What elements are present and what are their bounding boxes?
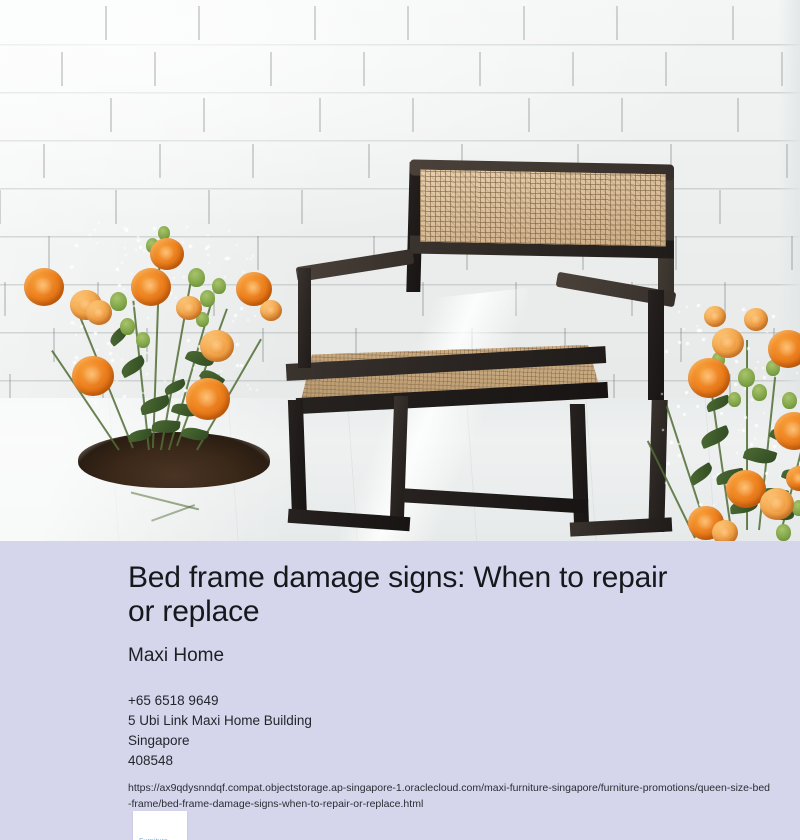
babys-breath bbox=[98, 222, 100, 224]
babys-breath bbox=[744, 388, 746, 390]
babys-breath bbox=[665, 350, 668, 353]
babys-breath bbox=[173, 277, 175, 279]
flower-bud bbox=[200, 290, 215, 307]
flower-bud bbox=[782, 392, 797, 409]
rose-bloom bbox=[72, 356, 114, 396]
rose-bloom bbox=[688, 358, 730, 398]
babys-breath bbox=[123, 227, 125, 229]
babys-breath bbox=[678, 341, 681, 344]
babys-breath bbox=[713, 476, 715, 478]
contact-block: +65 6518 9649 5 Ubi Link Maxi Home Build… bbox=[128, 691, 672, 771]
rose-bloom bbox=[86, 300, 112, 325]
babys-breath bbox=[249, 388, 251, 390]
babys-breath bbox=[153, 227, 156, 230]
babys-breath bbox=[699, 503, 702, 506]
babys-breath bbox=[247, 384, 249, 386]
flower-bud bbox=[120, 318, 135, 335]
contact-address-line2: Singapore bbox=[128, 731, 672, 751]
babys-breath bbox=[234, 314, 237, 317]
page-title: Bed frame damage signs: When to repair o… bbox=[128, 541, 672, 629]
contact-address-line1: 5 Ubi Link Maxi Home Building bbox=[128, 711, 672, 731]
babys-breath bbox=[125, 254, 127, 256]
babys-breath bbox=[121, 262, 123, 264]
rose-bloom bbox=[176, 296, 202, 320]
babys-breath bbox=[71, 321, 74, 324]
babys-breath bbox=[135, 249, 137, 251]
babys-breath bbox=[80, 325, 83, 328]
babys-breath bbox=[678, 454, 681, 457]
babys-breath bbox=[744, 416, 747, 419]
babys-breath bbox=[685, 391, 688, 394]
babys-breath bbox=[175, 297, 177, 299]
chair-left-armrest bbox=[296, 249, 415, 282]
babys-breath bbox=[181, 396, 183, 398]
babys-breath bbox=[686, 342, 689, 345]
babys-breath bbox=[763, 376, 766, 379]
babys-breath bbox=[124, 247, 126, 249]
babys-breath bbox=[247, 319, 249, 321]
babys-breath bbox=[236, 364, 239, 367]
page-url-line-2: -frame/bed-frame-damage-signs-when-to-re… bbox=[128, 796, 800, 812]
babys-breath bbox=[75, 244, 78, 247]
rose-bloom bbox=[712, 520, 738, 541]
chair-right-front-post bbox=[648, 290, 664, 400]
babys-breath bbox=[143, 250, 145, 252]
babys-breath bbox=[735, 360, 738, 363]
babys-breath bbox=[116, 380, 118, 382]
chair-left-rear-leg bbox=[390, 396, 408, 524]
babys-breath bbox=[720, 412, 723, 415]
babys-breath bbox=[131, 273, 133, 275]
babys-breath bbox=[207, 234, 209, 236]
babys-breath bbox=[228, 230, 230, 232]
chair-left-front-leg bbox=[288, 400, 307, 520]
babys-breath bbox=[713, 504, 715, 506]
babys-breath bbox=[220, 370, 222, 372]
babys-breath bbox=[242, 271, 244, 273]
babys-breath bbox=[205, 247, 208, 250]
babys-breath bbox=[164, 380, 166, 382]
company-name: Maxi Home bbox=[128, 644, 672, 668]
page-url[interactable]: https://ax9qdysnndqf.compat.objectstorag… bbox=[128, 780, 800, 812]
babys-breath bbox=[94, 401, 97, 404]
rose-bloom bbox=[712, 328, 744, 358]
flower-bud bbox=[776, 524, 791, 541]
chair-left-front-post bbox=[298, 268, 311, 368]
contact-postal-code: 408548 bbox=[128, 751, 672, 771]
babys-breath bbox=[250, 258, 252, 260]
contact-phone[interactable]: +65 6518 9649 bbox=[128, 691, 672, 711]
babys-breath bbox=[772, 315, 775, 318]
babys-breath bbox=[142, 392, 144, 394]
babys-breath bbox=[765, 472, 768, 475]
babys-breath bbox=[71, 292, 73, 294]
flower-bud bbox=[110, 292, 127, 311]
babys-breath bbox=[123, 288, 125, 290]
rose-bloom bbox=[186, 378, 230, 420]
babys-breath bbox=[763, 412, 765, 414]
babys-breath bbox=[755, 367, 757, 369]
babys-breath bbox=[137, 239, 140, 242]
babys-breath bbox=[109, 352, 112, 355]
babys-breath bbox=[187, 339, 190, 342]
babys-breath bbox=[738, 429, 740, 431]
babys-breath bbox=[683, 413, 686, 416]
babys-breath bbox=[696, 405, 699, 408]
babys-breath bbox=[699, 329, 702, 332]
rose-bloom bbox=[131, 268, 171, 306]
babys-breath bbox=[246, 258, 248, 260]
babys-breath bbox=[208, 262, 210, 264]
flower-bud bbox=[136, 332, 150, 348]
babys-breath bbox=[182, 241, 184, 243]
flower-bud bbox=[728, 392, 741, 407]
babys-breath bbox=[123, 395, 126, 398]
flower-bud bbox=[212, 278, 226, 294]
chair-base-stretcher bbox=[404, 488, 589, 513]
rose-bloom bbox=[760, 488, 794, 520]
babys-breath bbox=[177, 392, 179, 394]
babys-breath bbox=[796, 372, 798, 374]
babys-breath bbox=[734, 383, 737, 386]
babys-breath bbox=[236, 244, 238, 246]
content-panel: Bed frame damage signs: When to repair o… bbox=[0, 541, 800, 840]
babys-breath bbox=[75, 334, 77, 336]
babys-breath bbox=[252, 255, 254, 257]
rose-bloom bbox=[200, 330, 234, 362]
babys-breath bbox=[75, 356, 78, 359]
rose-bloom bbox=[260, 300, 282, 321]
rose-bloom bbox=[744, 308, 768, 331]
soil-mound bbox=[78, 432, 270, 488]
babys-breath bbox=[697, 304, 700, 307]
flower-bud bbox=[738, 368, 755, 387]
babys-breath bbox=[240, 307, 243, 310]
hero-photo bbox=[0, 0, 800, 541]
babys-breath bbox=[175, 376, 177, 378]
babys-breath bbox=[696, 325, 698, 327]
rose-bloom bbox=[768, 330, 800, 368]
flower-bud bbox=[752, 384, 767, 401]
rose-bloom bbox=[704, 306, 726, 327]
furniture-card[interactable]: Furniture bbox=[133, 811, 187, 840]
rose-bloom bbox=[150, 238, 184, 270]
babys-breath bbox=[747, 347, 750, 350]
babys-breath bbox=[236, 343, 239, 346]
babys-breath bbox=[677, 405, 680, 408]
babys-breath bbox=[256, 389, 258, 391]
page-url-line-1: https://ax9qdysnndqf.compat.objectstorag… bbox=[128, 780, 800, 796]
rose-bloom bbox=[24, 268, 64, 306]
babys-breath bbox=[107, 342, 110, 345]
babys-breath bbox=[240, 364, 243, 367]
babys-breath bbox=[773, 445, 776, 448]
flower-bud bbox=[188, 268, 205, 287]
babys-breath bbox=[661, 393, 663, 395]
chair-back-cane-panel bbox=[420, 170, 666, 247]
